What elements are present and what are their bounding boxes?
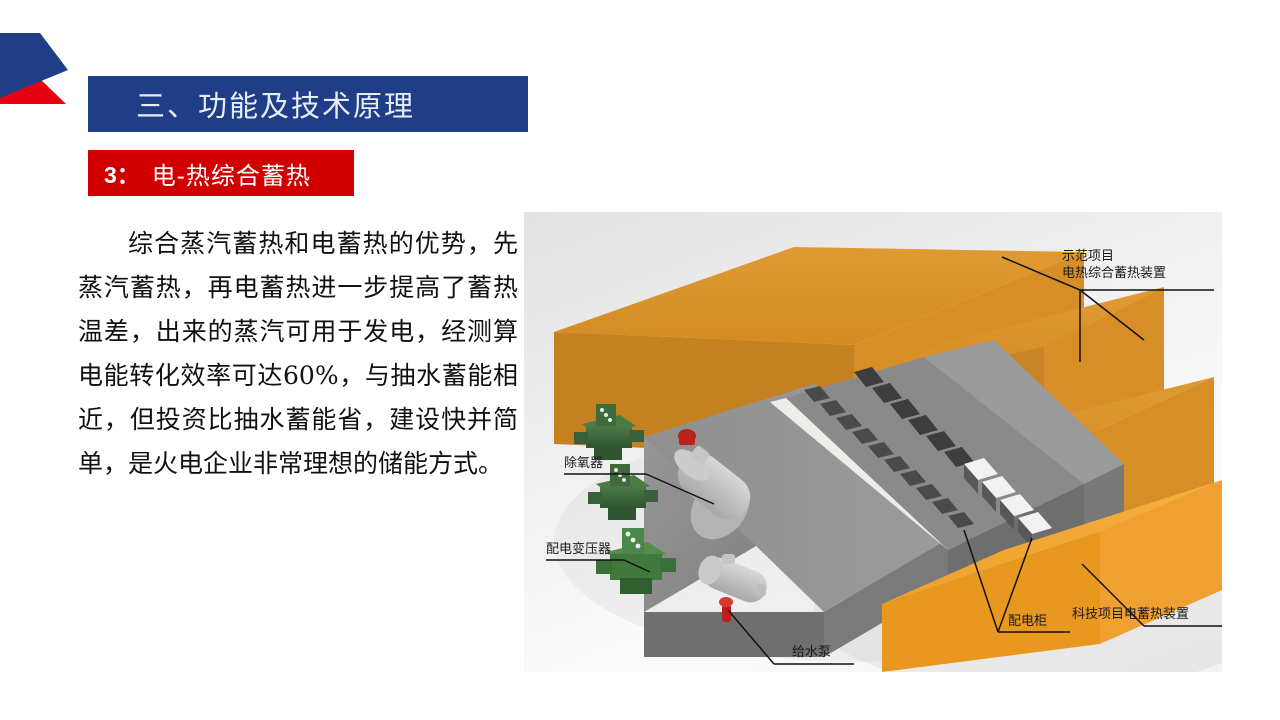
- chevron-logo-icon: [0, 30, 72, 122]
- section-title-bar: 三、功能及技术原理: [88, 76, 528, 132]
- label-tech-project: 科技项目电蓄热装置: [1072, 606, 1189, 623]
- section-title-text: 三、功能及技术原理: [88, 83, 415, 125]
- label-switchgear: 配电柜: [1008, 613, 1047, 630]
- slide: 三、功能及技术原理 3： 电-热综合蓄热 综合蒸汽蓄热和电蓄热的优势，先蒸汽蓄热…: [0, 0, 1280, 720]
- label-demo-project-line1: 示范项目: [1062, 248, 1166, 265]
- label-transformer-text: 配电变压器: [546, 541, 611, 558]
- label-demo-project: 示范项目 电热综合蓄热装置: [1062, 248, 1166, 282]
- subsection-number: 3：: [88, 156, 140, 190]
- label-feedwater-pump-text: 给水泵: [792, 644, 831, 661]
- illustration-panel: 示范项目 电热综合蓄热装置 除氧器 配电变压器 给水泵 配电柜 科技项目电蓄热装…: [524, 212, 1222, 672]
- label-tech-project-text: 科技项目电蓄热装置: [1072, 606, 1189, 623]
- label-transformer: 配电变压器: [546, 541, 611, 558]
- label-feedwater-pump: 给水泵: [792, 644, 831, 661]
- body-paragraph: 综合蒸汽蓄热和电蓄热的优势，先蒸汽蓄热，再电蓄热进一步提高了蓄热温差，出来的蒸汽…: [78, 222, 518, 486]
- label-demo-project-line2: 电热综合蓄热装置: [1062, 265, 1166, 282]
- label-switchgear-text: 配电柜: [1008, 613, 1047, 630]
- subsection-title-text: 电-热综合蓄热: [140, 156, 311, 191]
- label-deaerator-text: 除氧器: [564, 455, 603, 472]
- subsection-title-bar: 3： 电-热综合蓄热: [88, 150, 354, 196]
- label-deaerator: 除氧器: [564, 455, 603, 472]
- corner-logo-decoration: [0, 30, 72, 122]
